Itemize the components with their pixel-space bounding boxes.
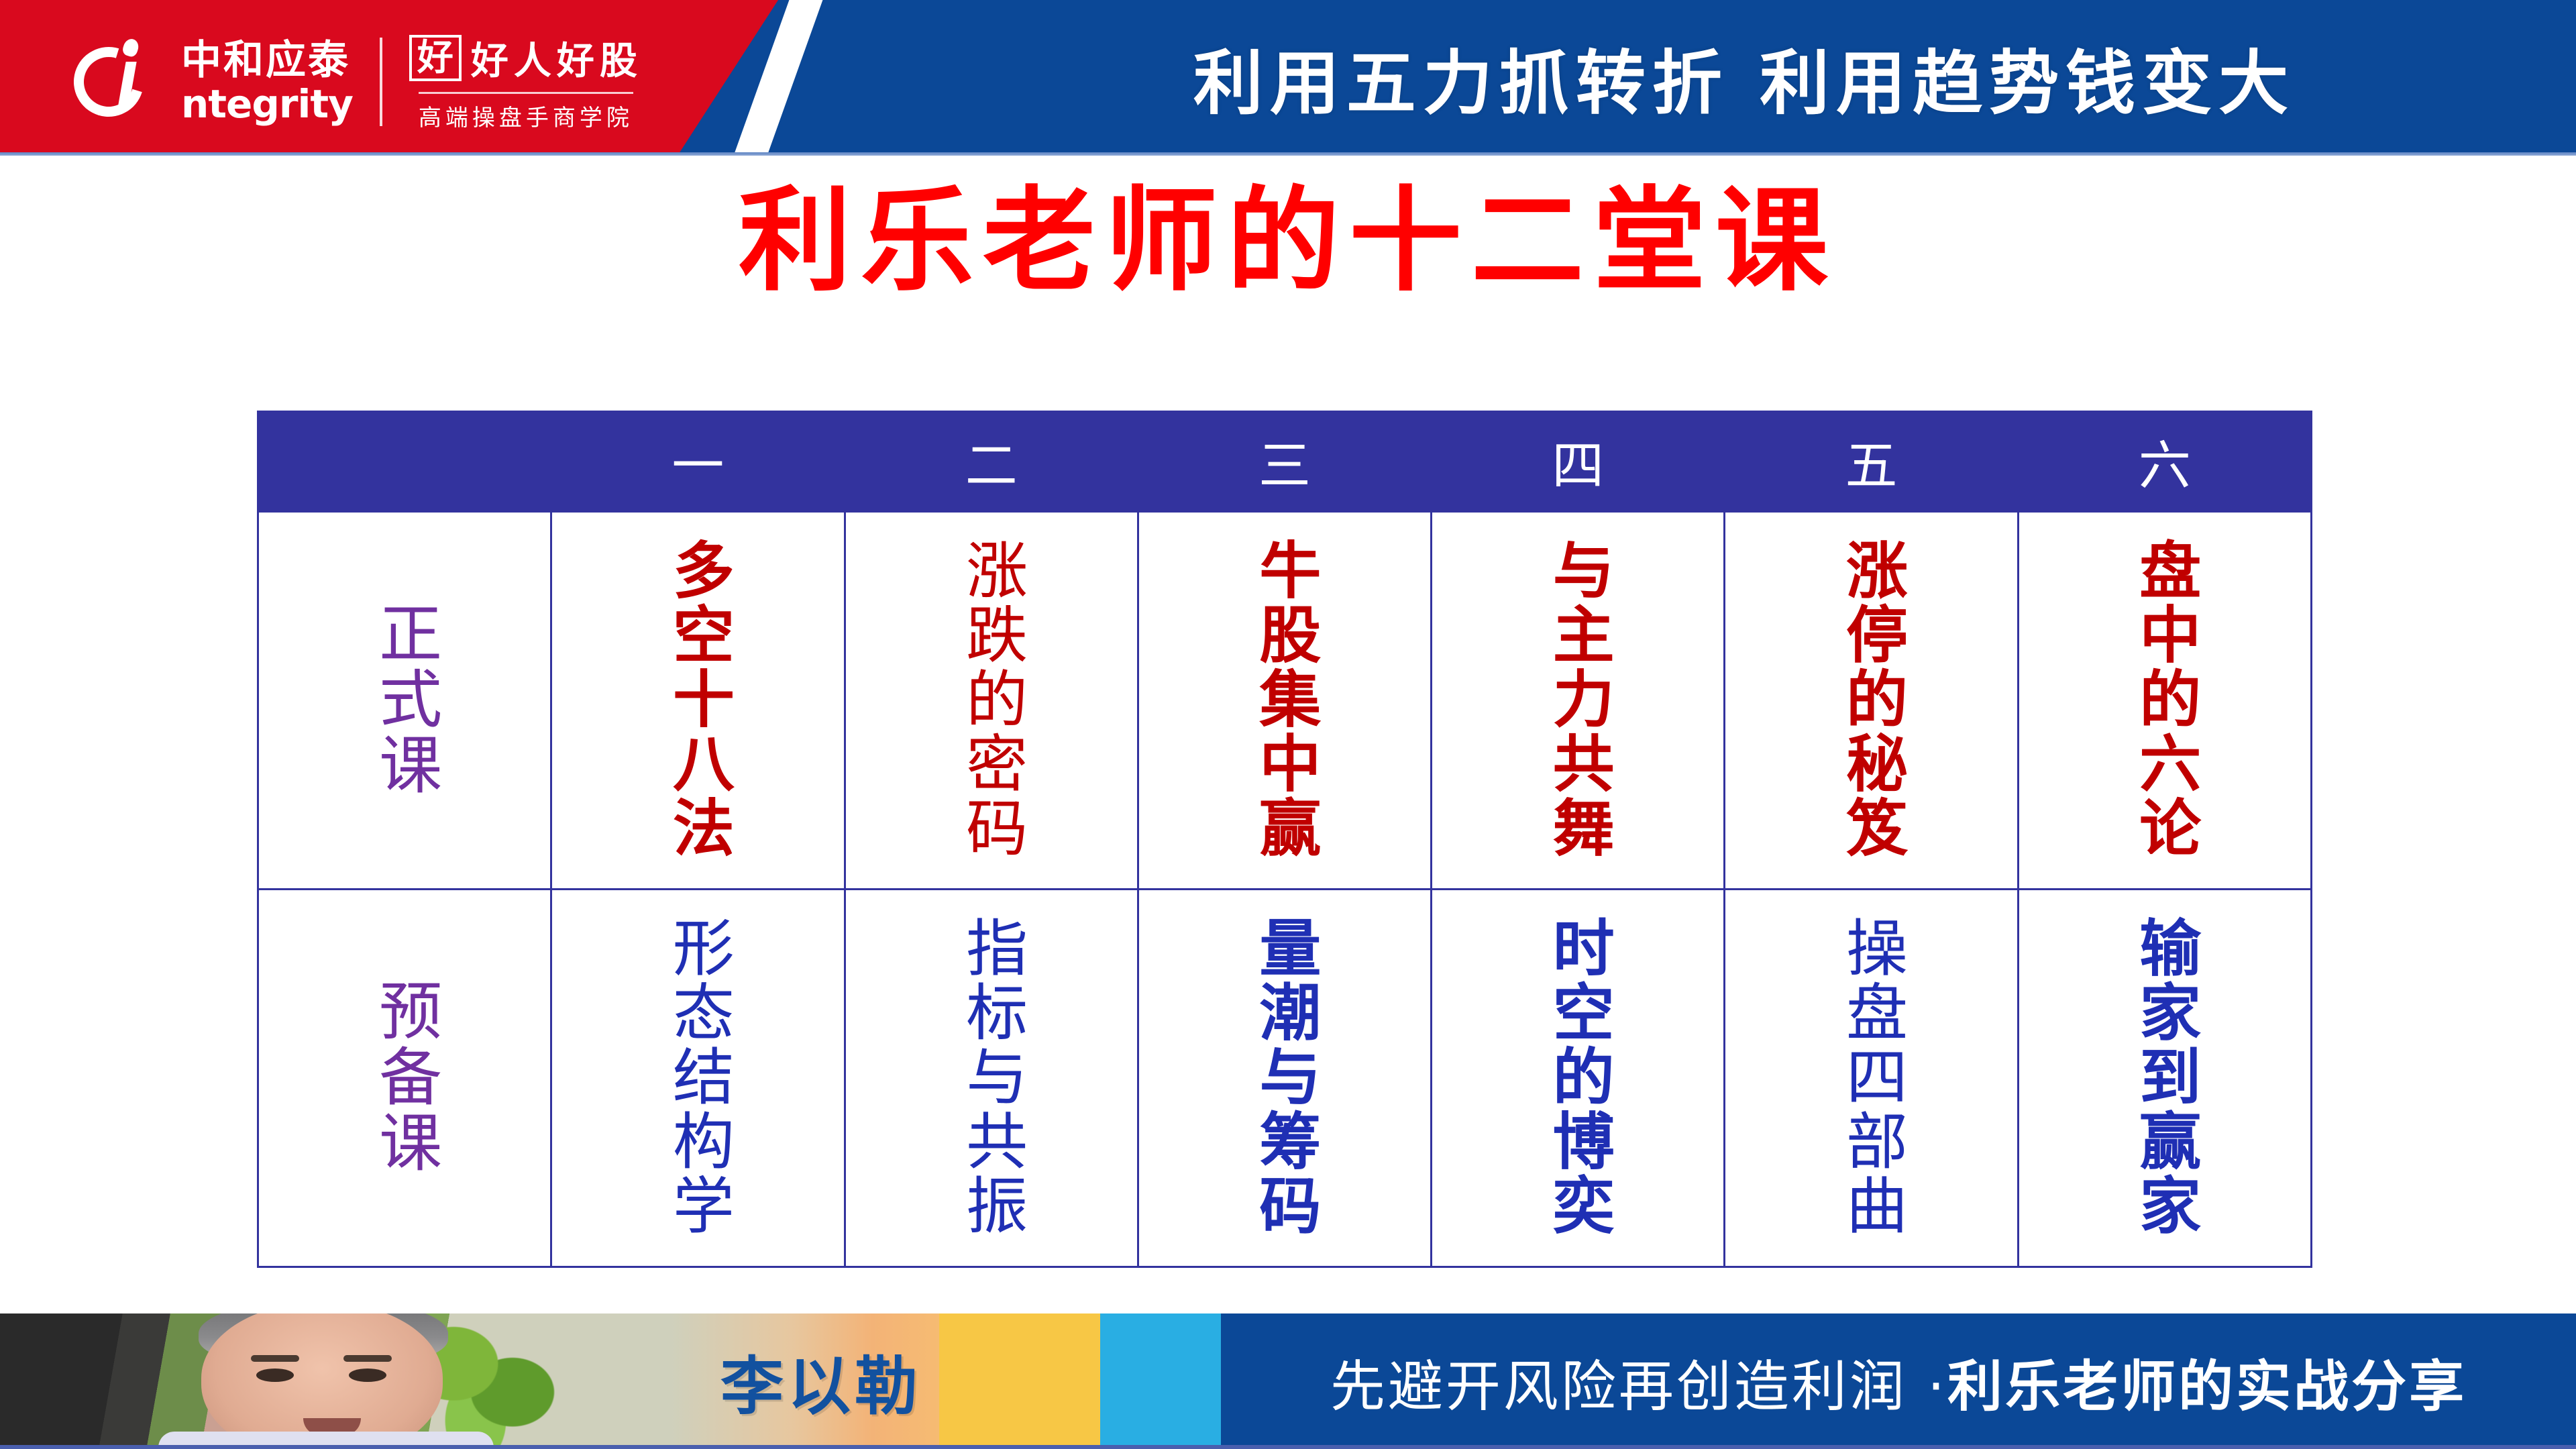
company-logo: 中和应泰 ntegrity 好 好人好股 高端操盘手商学院 (74, 31, 643, 132)
logo-text-block: 中和应泰 ntegrity (181, 40, 353, 123)
page-footer: 李以勒 先避开风险再创造利润 · 利乐老师的实战分享 (0, 1313, 2576, 1449)
presenter-brow-left (251, 1355, 299, 1362)
table-head: 一 二 三 四 五 六 (258, 412, 2312, 512)
course-cell-r1c1[interactable]: 多空十八法 (551, 512, 845, 890)
course-title: 操盘四部曲 (1840, 916, 1903, 1238)
presenter-brow-right (343, 1355, 392, 1362)
logo-slogan-box: 好 (409, 35, 462, 81)
slide: 中和应泰 ntegrity 好 好人好股 高端操盘手商学院 利用五力抓转折 利用… (0, 0, 2576, 1449)
course-cell-r2c3[interactable]: 量潮与筹码 (1138, 890, 1431, 1267)
course-title: 时空的博奕 (1546, 916, 1609, 1238)
integrity-circle-icon (74, 35, 158, 129)
table-row: 正式课 多空十八法 涨跌的密码 牛股集中赢 与主力共舞 涨停的秘笈 (258, 512, 2312, 890)
course-cell-r2c1[interactable]: 形态结构学 (551, 890, 845, 1267)
course-title: 量潮与筹码 (1253, 916, 1316, 1238)
row-label-text: 预备课 (372, 978, 437, 1175)
column-header-0 (258, 412, 551, 512)
presenter-photo (0, 1313, 671, 1449)
page-header: 中和应泰 ntegrity 好 好人好股 高端操盘手商学院 利用五力抓转折 利用… (0, 0, 2576, 156)
course-cell-r1c2[interactable]: 涨跌的密码 (845, 512, 1138, 890)
column-header-1: 一 (551, 412, 845, 512)
row-label-text: 正式课 (372, 600, 437, 798)
column-header-6: 六 (2018, 412, 2311, 512)
course-title: 涨停的秘笈 (1840, 538, 1903, 860)
footer-slogan-bold: 利乐老师的实战分享 (1947, 1342, 2467, 1421)
footer-slogan-plain: 先避开风险再创造利润 · (1330, 1342, 1947, 1421)
course-title: 输家到赢家 (2133, 916, 2196, 1238)
logo-slogan-row: 好 好人好股 (409, 31, 643, 85)
logo-c-ring (62, 34, 156, 129)
course-cell-r1c6[interactable]: 盘中的六论 (2018, 512, 2311, 890)
footer-bottom-rule (0, 1445, 2576, 1449)
logo-slogan-block: 好 好人好股 高端操盘手商学院 (409, 31, 643, 132)
logo-brand-en: ntegrity (181, 85, 353, 123)
presenter-eye-right (349, 1368, 386, 1382)
row-label-formal: 正式课 (258, 512, 551, 890)
logo-slogan-rest: 好人好股 (471, 31, 643, 85)
footer-stripe-yellow (939, 1313, 1100, 1449)
logo-subtitle: 高端操盘手商学院 (419, 92, 633, 132)
course-title: 涨跌的密码 (960, 538, 1023, 860)
presenter-name: 李以勒 (657, 1313, 939, 1449)
column-header-4: 四 (1432, 412, 1725, 512)
column-header-2: 二 (845, 412, 1138, 512)
table-header-row: 一 二 三 四 五 六 (258, 412, 2312, 512)
table-body: 正式课 多空十八法 涨跌的密码 牛股集中赢 与主力共舞 涨停的秘笈 (258, 512, 2312, 1267)
course-title: 与主力共舞 (1546, 538, 1609, 860)
course-cell-r1c3[interactable]: 牛股集中赢 (1138, 512, 1431, 890)
course-title: 指标与共振 (960, 916, 1023, 1238)
footer-stripe-cyan (1100, 1313, 1221, 1449)
course-cell-r2c5[interactable]: 操盘四部曲 (1725, 890, 2018, 1267)
column-header-3: 三 (1138, 412, 1431, 512)
logo-brand-cn: 中和应泰 (181, 40, 353, 80)
course-cell-r1c5[interactable]: 涨停的秘笈 (1725, 512, 2018, 890)
course-cell-r2c2[interactable]: 指标与共振 (845, 890, 1138, 1267)
page-title: 利乐老师的十二堂课 (0, 176, 2576, 305)
column-header-5: 五 (1725, 412, 2018, 512)
header-bottom-rule (0, 152, 2576, 156)
row-label-prep: 预备课 (258, 890, 551, 1267)
table-row: 预备课 形态结构学 指标与共振 量潮与筹码 时空的博奕 操盘四部曲 (258, 890, 2312, 1267)
banner-title: 利用五力抓转折 利用趋势钱变大 (959, 9, 2529, 144)
course-table: 一 二 三 四 五 六 正式课 多空十八法 涨跌的密码 牛股集中赢 (257, 411, 2312, 1268)
course-title: 牛股集中赢 (1253, 538, 1316, 860)
course-cell-r2c6[interactable]: 输家到赢家 (2018, 890, 2311, 1267)
course-cell-r1c4[interactable]: 与主力共舞 (1432, 512, 1725, 890)
presenter-eye-left (256, 1368, 294, 1382)
course-title: 盘中的六论 (2133, 538, 2196, 860)
course-title: 多空十八法 (667, 538, 730, 860)
logo-divider (380, 38, 382, 126)
footer-slogan: 先避开风险再创造利润 · 利乐老师的实战分享 (1221, 1313, 2576, 1449)
course-title: 形态结构学 (667, 916, 730, 1238)
course-cell-r2c4[interactable]: 时空的博奕 (1432, 890, 1725, 1267)
